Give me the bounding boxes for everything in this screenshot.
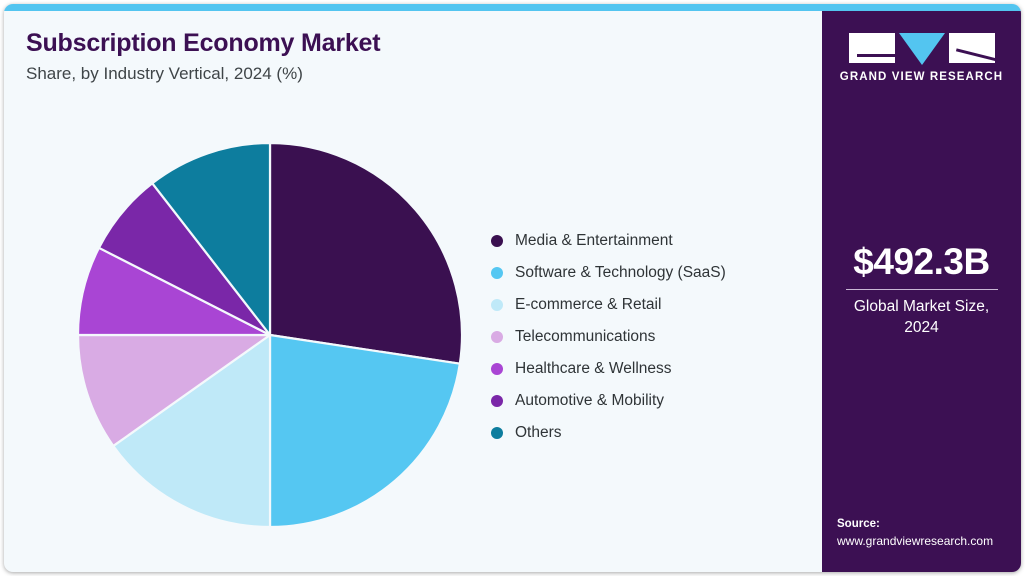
stat-divider (846, 289, 998, 290)
logo-v-triangle-icon (899, 33, 945, 65)
market-size-value: $492.3B (822, 243, 1021, 282)
legend-swatch-icon (491, 267, 503, 279)
legend-item-label: Media & Entertainment (515, 233, 673, 249)
title-block: Subscription Economy Market Share, by In… (26, 29, 796, 84)
legend-item[interactable]: Healthcare & Wellness (491, 353, 791, 385)
logo-wordmark: GRAND VIEW RESEARCH (822, 71, 1021, 83)
legend-item-label: Software & Technology (SaaS) (515, 265, 726, 281)
logo-g-icon (849, 33, 895, 63)
legend-item-label: Automotive & Mobility (515, 393, 664, 409)
source-block: Source: www.grandviewresearch.com (837, 516, 1021, 550)
screenshot-canvas: Subscription Economy Market Share, by In… (0, 0, 1025, 576)
legend-swatch-icon (491, 427, 503, 439)
main-content-area: Subscription Economy Market Share, by In… (4, 11, 822, 572)
source-url: www.grandviewresearch.com (837, 533, 1021, 550)
legend-item-label: E-commerce & Retail (515, 297, 661, 313)
legend-item[interactable]: Media & Entertainment (491, 225, 791, 257)
market-size-caption: Global Market Size, 2024 (822, 297, 1021, 339)
pie-chart-svg (74, 139, 466, 531)
sidebar-panel: GRAND VIEW RESEARCH $492.3B Global Marke… (822, 11, 1021, 572)
legend-item[interactable]: Others (491, 417, 791, 449)
legend-item[interactable]: E-commerce & Retail (491, 289, 791, 321)
pie-chart (74, 139, 466, 531)
page-subtitle: Share, by Industry Vertical, 2024 (%) (26, 64, 796, 84)
brand-logo: GRAND VIEW RESEARCH (822, 33, 1021, 83)
chart-legend: Media & EntertainmentSoftware & Technolo… (491, 225, 791, 449)
legend-swatch-icon (491, 331, 503, 343)
logo-r-icon (949, 33, 995, 63)
legend-swatch-icon (491, 395, 503, 407)
pie-slice[interactable] (270, 143, 462, 364)
legend-item[interactable]: Automotive & Mobility (491, 385, 791, 417)
legend-swatch-icon (491, 235, 503, 247)
infographic-card: Subscription Economy Market Share, by In… (4, 4, 1021, 572)
top-accent-bar (4, 4, 1021, 11)
legend-item[interactable]: Telecommunications (491, 321, 791, 353)
page-title: Subscription Economy Market (26, 29, 796, 58)
legend-item-label: Healthcare & Wellness (515, 361, 672, 377)
legend-item-label: Others (515, 425, 562, 441)
legend-item-label: Telecommunications (515, 329, 655, 345)
legend-swatch-icon (491, 363, 503, 375)
logo-marks (822, 33, 1021, 63)
legend-item[interactable]: Software & Technology (SaaS) (491, 257, 791, 289)
legend-swatch-icon (491, 299, 503, 311)
market-size-stat: $492.3B Global Market Size, 2024 (822, 243, 1021, 339)
pie-slice[interactable] (270, 335, 460, 527)
source-label: Source: (837, 516, 1021, 533)
pie-slice-group (78, 143, 462, 527)
